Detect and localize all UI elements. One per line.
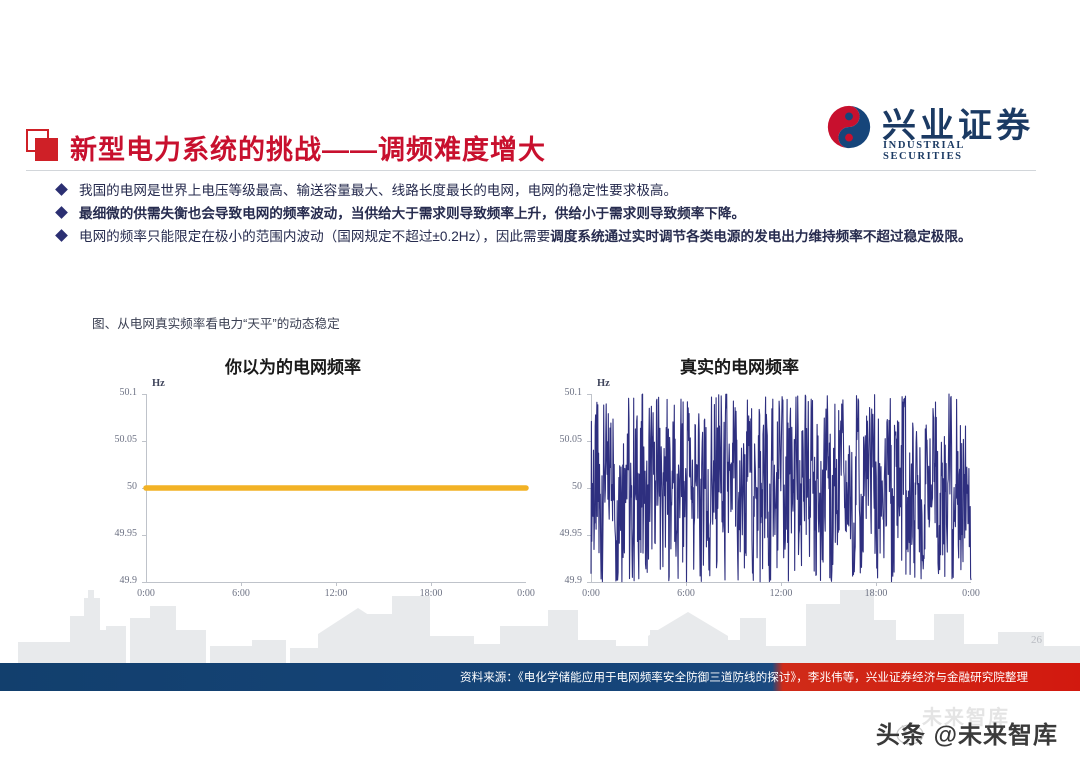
bullet-text-2: 最细微的供需失衡也会导致电网的频率波动，当供给大于需求则导致频率上升，供给小于需… (79, 206, 745, 221)
chart-title-left: 你以为的电网频率 (225, 353, 361, 378)
bullet-item-2: 最细微的供需失衡也会导致电网的频率波动，当供给大于需求则导致频率上升，供给小于需… (57, 204, 1047, 224)
logo-text-en: INDUSTRIAL SECURITIES (883, 140, 1034, 162)
bullet-list: 我国的电网是世界上电压等级最高、输送容量最大、线路长度最长的电网，电网的稳定性要… (57, 181, 1047, 250)
bottom-watermark: 头条 @未来智库 (876, 715, 1058, 750)
skyline-roof (648, 612, 728, 670)
chart-real-frequency: Hz50.150.055049.9549.90:006:0012:0018:00… (545, 378, 985, 608)
figure-caption: 图、从电网真实频率看电力“天平”的动态稳定 (92, 313, 340, 332)
company-logo: 兴业证券 INDUSTRIAL SECURITIES (826, 100, 1034, 162)
diamond-bullet-icon (55, 183, 68, 196)
diamond-bullet-icon (55, 229, 68, 242)
skyline-roof (318, 608, 398, 670)
bullet-item-3: 电网的频率只能限定在极小的范围内波动（国网规定不超过±0.2Hz），因此需要调度… (57, 227, 1047, 247)
swirl-logo-icon (826, 104, 872, 150)
page-title: 新型电力系统的挑战——调频难度增大 (70, 128, 546, 167)
chart-ideal-frequency: Hz50.150.055049.9549.90:006:0012:0018:00… (100, 378, 540, 608)
bullet-text-3-bold: 调度系统通过实时调节各类电源的发电出力维持频率不超过稳定极限。 (550, 229, 971, 244)
skyline-building (934, 614, 964, 670)
slide: 兴业证券 INDUSTRIAL SECURITIES 新型电力系统的挑战——调频… (0, 0, 1080, 764)
diamond-bullet-icon (55, 206, 68, 219)
source-text: 资料来源：《电化学储能应用于电网频率安全防御三道防线的探讨》，李兆伟等，兴业证券… (460, 669, 1028, 685)
page-number: 26 (1031, 634, 1042, 646)
square-filled (35, 138, 58, 161)
chart-plot-area (545, 378, 985, 608)
chart-title-right: 真实的电网频率 (680, 353, 799, 378)
skyline-spire (88, 590, 94, 670)
bullet-text-1: 我国的电网是世界上电压等级最高、输送容量最大、线路长度最长的电网，电网的稳定性要… (79, 183, 677, 198)
skyline-building (548, 610, 578, 670)
bullet-item-1: 我国的电网是世界上电压等级最高、输送容量最大、线路长度最长的电网，电网的稳定性要… (57, 181, 1047, 201)
bullet-text-3-plain: 电网的频率只能限定在极小的范围内波动（国网规定不超过±0.2Hz），因此需要 (79, 229, 550, 244)
chart-plot-area (100, 378, 540, 608)
title-divider (26, 170, 1036, 171)
skyline-building (150, 606, 176, 670)
title-square-icon (26, 129, 60, 163)
